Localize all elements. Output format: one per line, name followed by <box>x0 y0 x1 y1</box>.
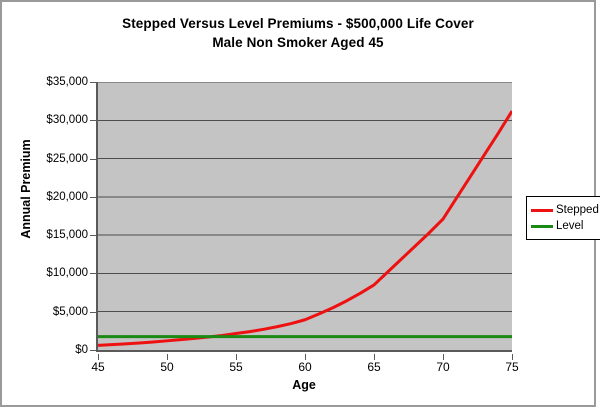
y-tick-label: $5,000 <box>2 306 88 318</box>
legend-item-stepped[interactable]: Stepped <box>531 202 599 218</box>
x-axis-title: Age <box>96 378 512 392</box>
chart-title-line-1: Stepped Versus Level Premiums - $500,000… <box>2 14 594 33</box>
legend-item-level[interactable]: Level <box>531 218 599 234</box>
chart-title-line-2: Male Non Smoker Aged 45 <box>2 33 594 52</box>
plot-area <box>96 82 512 352</box>
x-tick-label: 70 <box>423 360 463 374</box>
x-tick-label: 45 <box>78 360 118 374</box>
legend-item-label: Level <box>556 220 584 232</box>
x-tick-label: 55 <box>216 360 256 374</box>
chart-container: Stepped Versus Level Premiums - $500,000… <box>0 0 596 407</box>
legend-swatch-icon <box>531 209 553 212</box>
chart-title: Stepped Versus Level Premiums - $500,000… <box>2 14 594 52</box>
x-axis-tick-labels: 45505560657075 <box>96 354 512 376</box>
x-tick-mark <box>374 354 375 360</box>
x-tick-label: 60 <box>285 360 325 374</box>
x-tick-mark <box>236 354 237 360</box>
x-tick-label: 75 <box>492 360 532 374</box>
x-tick-mark <box>443 354 444 360</box>
y-tick-label: $25,000 <box>2 153 88 165</box>
y-tick-label: $0 <box>2 344 88 356</box>
plot-svg <box>98 82 512 350</box>
y-tick-label: $35,000 <box>2 76 88 88</box>
y-tick-label: $15,000 <box>2 229 88 241</box>
legend-swatch-icon <box>531 225 553 228</box>
y-tick-label: $20,000 <box>2 191 88 203</box>
y-tick-label: $10,000 <box>2 267 88 279</box>
x-tick-mark <box>305 354 306 360</box>
x-tick-mark <box>167 354 168 360</box>
x-tick-label: 65 <box>354 360 394 374</box>
series-line-stepped <box>98 111 512 345</box>
y-axis-tick-labels: $0$5,000$10,000$15,000$20,000$25,000$30,… <box>2 82 88 350</box>
chart-legend: SteppedLevel <box>526 196 600 240</box>
x-tick-label: 50 <box>147 360 187 374</box>
x-tick-mark <box>98 354 99 360</box>
x-tick-mark <box>512 354 513 360</box>
legend-item-label: Stepped <box>556 204 599 216</box>
y-tick-label: $30,000 <box>2 114 88 126</box>
